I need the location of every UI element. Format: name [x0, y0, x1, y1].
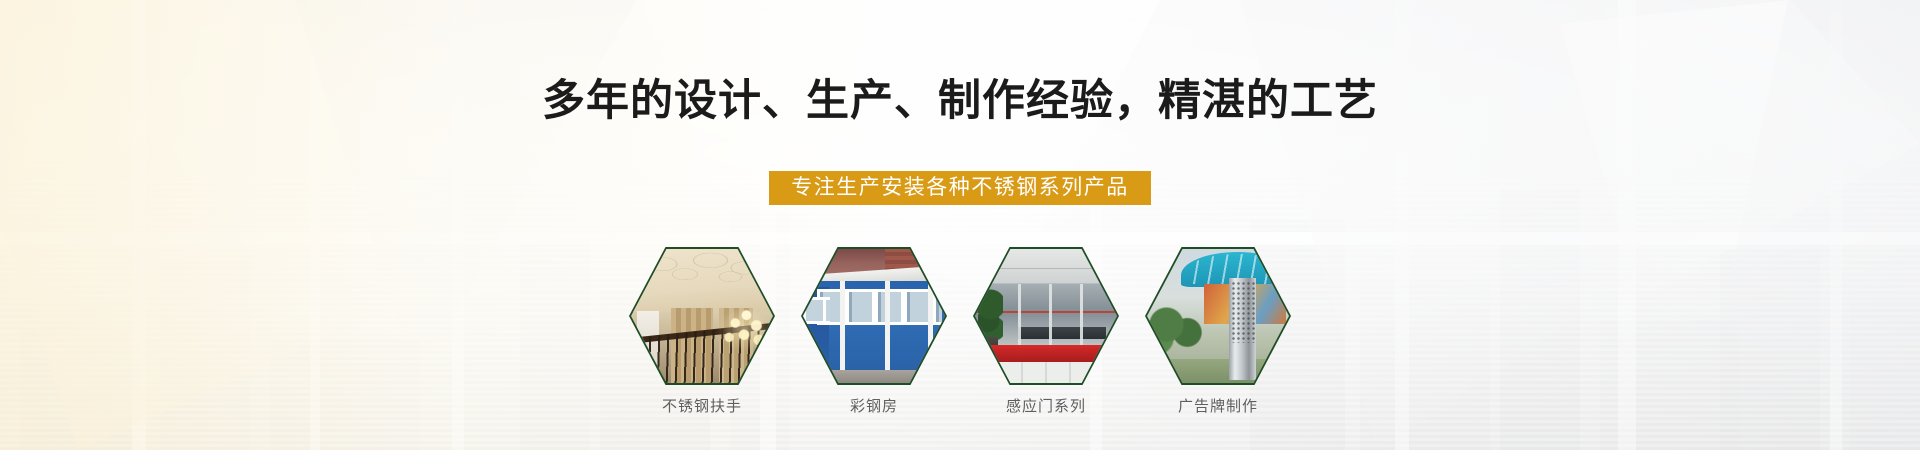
hexagon-frame[interactable] [629, 247, 775, 385]
banner-headline: 多年的设计、生产、制作经验，精湛的工艺 [0, 78, 1920, 125]
banner-subtitle-wrap: 专注生产安装各种不锈钢系列产品 [0, 171, 1920, 205]
stainless-steel-handrail-photo [631, 249, 773, 383]
automatic-sensor-door-photo [975, 249, 1117, 383]
product-label: 感应门系列 [973, 395, 1119, 416]
hero-banner: 多年的设计、生产、制作经验，精湛的工艺 专注生产安装各种不锈钢系列产品 [0, 0, 1920, 450]
product-hexagon-row: 不锈钢扶手 [0, 247, 1920, 416]
product-item-color-steel-cabin[interactable]: 彩钢房 [801, 247, 947, 416]
color-steel-cabin-photo [803, 249, 945, 383]
product-label: 不锈钢扶手 [629, 395, 775, 416]
hexagon-frame[interactable] [1145, 247, 1291, 385]
billboard-sign-photo [1147, 249, 1289, 383]
hexagon-frame[interactable] [801, 247, 947, 385]
product-item-handrail[interactable]: 不锈钢扶手 [629, 247, 775, 416]
banner-subtitle-badge: 专注生产安装各种不锈钢系列产品 [769, 171, 1151, 205]
banner-content: 多年的设计、生产、制作经验，精湛的工艺 专注生产安装各种不锈钢系列产品 [0, 0, 1920, 450]
product-label: 彩钢房 [801, 395, 947, 416]
product-label: 广告牌制作 [1145, 395, 1291, 416]
hexagon-frame[interactable] [973, 247, 1119, 385]
product-item-billboard[interactable]: 广告牌制作 [1145, 247, 1291, 416]
product-item-sensor-door[interactable]: 感应门系列 [973, 247, 1119, 416]
